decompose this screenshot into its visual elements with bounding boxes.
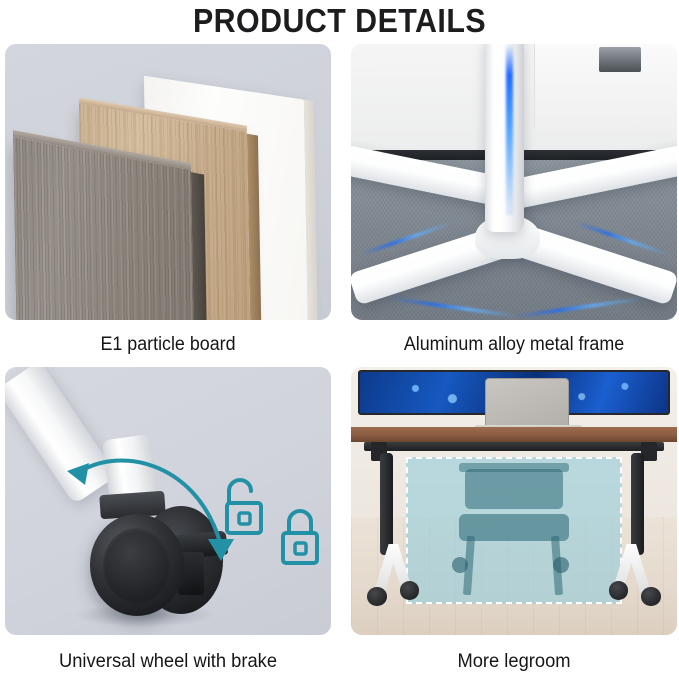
desk-apron-beam	[364, 442, 664, 451]
wall-outlet-box	[599, 47, 641, 72]
particle-board-image	[5, 44, 331, 320]
desk-caster-front-right	[641, 587, 661, 606]
caption-particle-board: E1 particle board	[15, 333, 321, 357]
detail-cell-metal-frame: Aluminum alloy metal frame	[351, 44, 677, 357]
brake-toggle-arc-icon	[75, 461, 220, 542]
desk-caster-rear-right	[609, 581, 629, 600]
caption-metal-frame: Aluminum alloy metal frame	[361, 333, 667, 357]
desk-caster-front-left	[367, 587, 387, 606]
arc-arrowhead-unlock	[67, 463, 89, 485]
caption-more-legroom: More legroom	[361, 649, 667, 673]
frame-center-column	[485, 44, 524, 232]
unlock-icon	[227, 480, 261, 533]
chair-backrest	[465, 469, 563, 509]
caption-universal-wheel: Universal wheel with brake	[15, 649, 321, 673]
detail-cell-particle-board: E1 particle board	[5, 44, 331, 357]
universal-wheel-image	[5, 367, 331, 635]
arc-arrowhead-lock	[208, 539, 234, 561]
details-grid: E1 particle board Aluminum alloy metal f…	[5, 44, 674, 669]
gray-board-sample	[13, 137, 195, 320]
more-legroom-image	[351, 367, 677, 635]
column-accent-glow	[506, 44, 513, 215]
lock-indicator-group	[5, 367, 331, 635]
page-title: PRODUCT DETAILS	[27, 2, 652, 40]
metal-frame-image	[351, 44, 677, 320]
desk-side-panel-left	[380, 453, 393, 555]
desk-tabletop	[351, 427, 677, 442]
detail-cell-more-legroom: More legroom	[351, 367, 677, 673]
laptop	[485, 378, 570, 426]
detail-cell-universal-wheel: Universal wheel with brake	[5, 367, 331, 673]
desk-side-panel-right	[631, 453, 644, 555]
lock-icon	[283, 511, 317, 563]
